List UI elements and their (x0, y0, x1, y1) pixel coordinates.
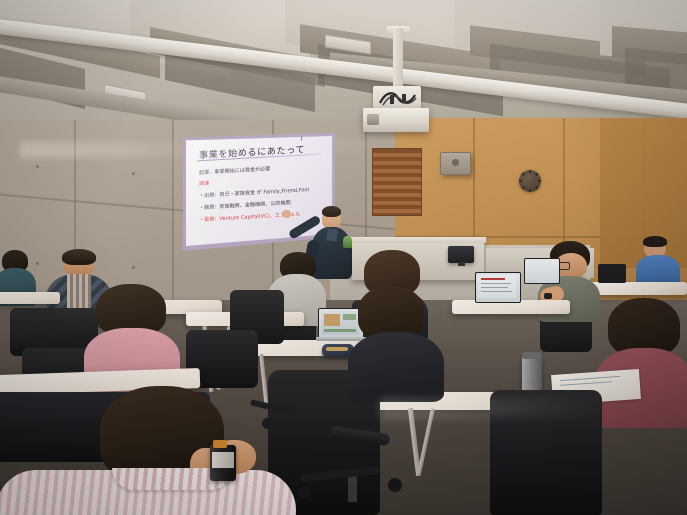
drink-can-label (212, 452, 234, 468)
chair-caster (388, 478, 402, 492)
speaker-cone-icon (452, 159, 459, 166)
list-item (352, 286, 438, 396)
list-item (636, 238, 680, 286)
drink-can-tab-icon (213, 440, 227, 448)
laptop-screen (598, 264, 626, 283)
laptop-screen (524, 258, 560, 284)
list-item (86, 386, 271, 515)
small-plant (343, 236, 352, 248)
lectern-top (350, 237, 486, 243)
slide-line-4: ・融資：家族融資、金融機関、公的機関 (199, 199, 291, 211)
projector-lens-icon (367, 114, 379, 125)
wristwatch (544, 293, 552, 299)
slide-line-2: 調達 (199, 180, 209, 188)
slide-line-1: 起業、事業開始には資金が必要 (199, 165, 270, 176)
list-item (598, 298, 687, 426)
podium-monitor (448, 246, 474, 263)
desk (0, 292, 60, 304)
floor-highlight (380, 398, 610, 418)
presenter-hair (322, 206, 341, 217)
podium-monitor-stand (458, 262, 465, 266)
thermos-cap (522, 352, 542, 359)
desk (590, 282, 687, 295)
wooden-louver-panel (372, 148, 422, 216)
wall-clock (519, 170, 541, 192)
chair-caster (298, 486, 311, 499)
slide-title: 事業を始めるにあたって (199, 140, 321, 161)
lecture-hall-photo: MEIJI UNIV. 事業を始めるにあたって 起業、事業開始には資金が必要 調… (0, 0, 687, 515)
projector-cables-icon (378, 89, 418, 107)
